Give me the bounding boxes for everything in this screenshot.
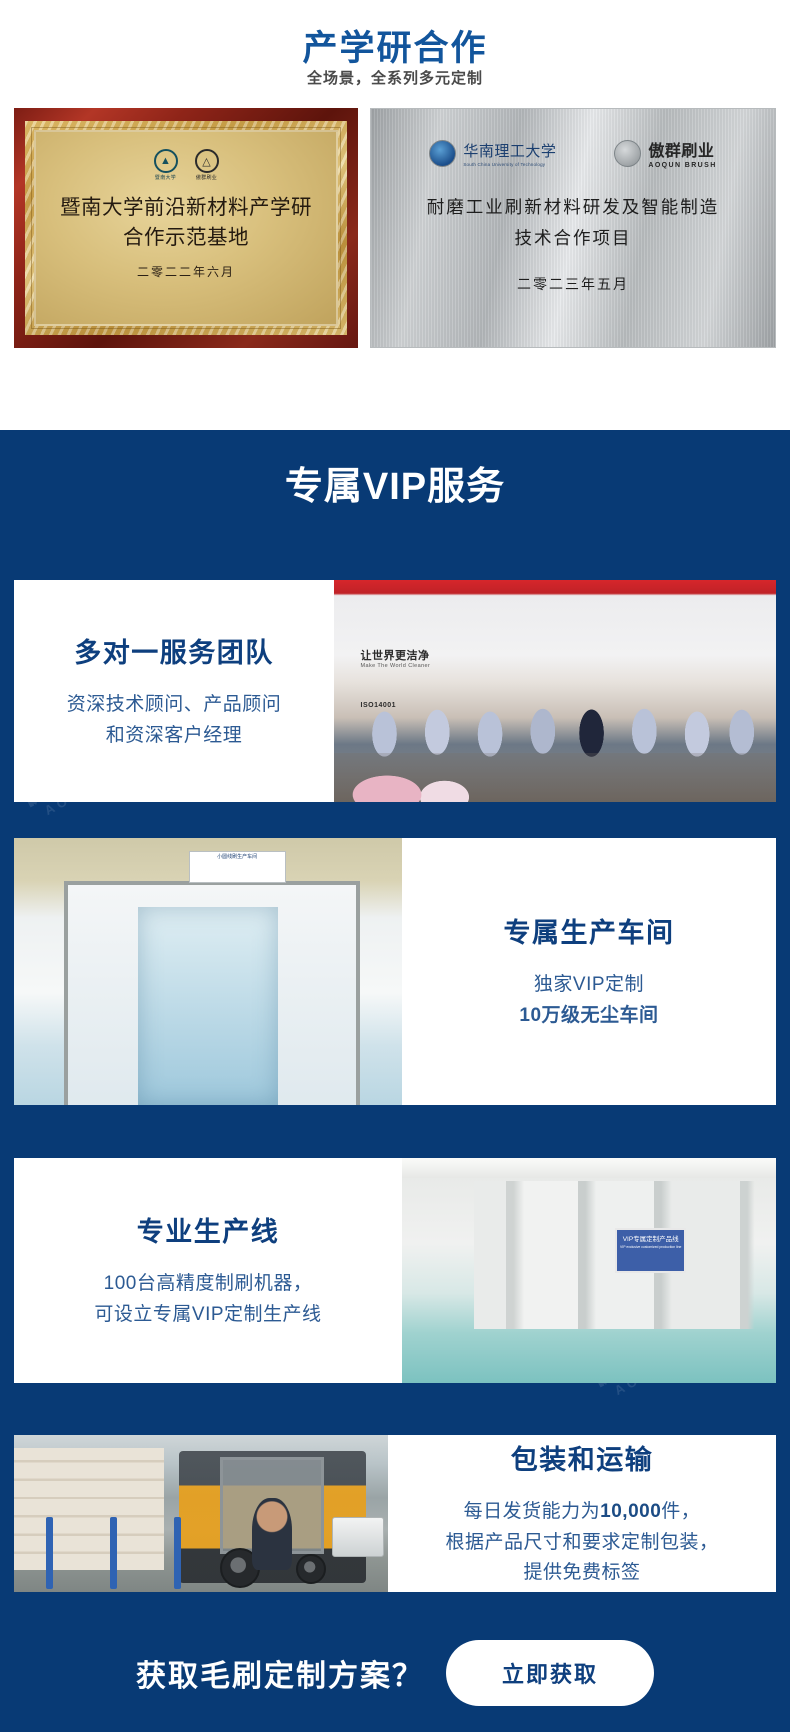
- plaque-gold-face: ▲ 暨南大学 △ 傲群刷业 暨南大学前沿新材料产学研 合作示范基地: [34, 130, 338, 326]
- vip-card-packaging-body: 每日发货能力为10,000件， 根据产品尺寸和要求定制包装， 提供免费标签: [445, 1497, 718, 1589]
- vip-card-team-image: 让世界更洁净 Make The World Cleaner ISO14001: [334, 580, 776, 802]
- university-seal-icon: ▲: [154, 149, 178, 173]
- vip-card-team-body-line-2: 和资深客户经理: [67, 721, 282, 752]
- vip-card-production-line-image: VIP专属定制产品线 VIP exclusive customized prod…: [402, 1158, 776, 1383]
- vip-section-title: 专属VIP服务: [0, 455, 790, 510]
- plaque-gold-bevel: ▲ 暨南大学 △ 傲群刷业 暨南大学前沿新材料产学研 合作示范基地: [25, 121, 347, 335]
- aoqun-logo-label-silver: 傲群刷业: [648, 137, 716, 161]
- photo-team-expo: [334, 580, 776, 802]
- vip-card-workshop-body: 独家VIP定制 10万级无尘车间: [519, 970, 658, 1032]
- photo-slogan-cn: 让世界更洁净: [361, 650, 430, 662]
- page-title: 产学研合作: [0, 20, 790, 71]
- aoqun-mountain-icon: △: [195, 149, 219, 173]
- scut-logo-label: 华南理工大学: [463, 140, 556, 161]
- photo-workshop-sign: 小圆线刷生产车间: [189, 851, 286, 883]
- plaque-gold-text: 暨南大学前沿新材料产学研 合作示范基地: [60, 193, 312, 252]
- scut-seal-icon: [429, 140, 456, 167]
- vip-card-production-line-title: 专业生产线: [137, 1210, 280, 1249]
- scut-logo: 华南理工大学 South China University of Technol…: [429, 140, 556, 167]
- photo-slogan-en: Make The World Cleaner: [361, 663, 431, 669]
- vip-card-production-line-body-line-2: 可设立专属VIP定制生产线: [94, 1300, 321, 1331]
- plaque-gold-line1: 暨南大学前沿新材料产学研: [60, 193, 312, 223]
- vip-card-production-line-text: 专业生产线 100台高精度制刷机器， 可设立专属VIP定制生产线: [14, 1158, 402, 1383]
- plaque-silver-date: 二零二三年五月: [517, 274, 629, 294]
- page-subtitle: 全场景，全系列多元定制: [0, 67, 790, 88]
- delivery-van: [332, 1517, 384, 1558]
- aoqun-brush-logo-silver: 傲群刷业 AOQUN BRUSH: [614, 137, 716, 169]
- photo-forklift-loading: [14, 1435, 388, 1592]
- cta-banner: 获取毛刷定制方案？ 立即获取: [0, 1625, 790, 1721]
- cooperation-section: 产学研合作 全场景，全系列多元定制 ▲ 暨南大学 △ 傲群刷业: [0, 0, 790, 430]
- vip-card-team-body-line-1: 资深技术顾问、产品顾问: [67, 690, 282, 721]
- photo-slogan-overlay: 让世界更洁净 Make The World Cleaner: [361, 647, 431, 669]
- pallet-rack-post-icon: [174, 1517, 181, 1589]
- vip-card-production-line-body-line-1: 100台高精度制刷机器，: [94, 1269, 321, 1300]
- product-detail-page: 产学研合作 全场景，全系列多元定制 ▲ 暨南大学 △ 傲群刷业: [0, 0, 790, 1735]
- pallet-rack-post-icon: [46, 1517, 53, 1589]
- vip-card-workshop: 小圆线刷生产车间 专属生产车间 独家VIP定制 10万级无尘车间: [14, 838, 776, 1105]
- vip-card-production-line: 专业生产线 100台高精度制刷机器， 可设立专属VIP定制生产线 VIP专属定制…: [14, 1158, 776, 1383]
- aoqun-mountain-icon-silver: [614, 140, 641, 167]
- plaque-gold-date: 二零二二年六月: [137, 263, 235, 280]
- aoqun-brush-logo-label: 傲群刷业: [196, 174, 217, 181]
- plaque-gold-line2: 合作示范基地: [60, 223, 312, 253]
- vip-card-packaging-body-line-2: 根据产品尺寸和要求定制包装，: [445, 1528, 718, 1559]
- vip-card-team: 多对一服务团队 资深技术顾问、产品顾问 和资深客户经理 让世界更洁净 Make …: [14, 580, 776, 802]
- vip-card-workshop-image: 小圆线刷生产车间: [14, 838, 402, 1105]
- vip-card-packaging-body-line-3: 提供免费标签: [445, 1558, 718, 1589]
- cta-question: 获取毛刷定制方案？: [136, 1651, 424, 1695]
- vip-card-workshop-body-line-1: 独家VIP定制: [519, 970, 658, 1001]
- plaque-silver-text: 耐磨工业刷新材料研发及智能制造 技术合作项目: [427, 193, 720, 254]
- aoqun-logo-label-en-silver: AOQUN BRUSH: [648, 162, 716, 169]
- scut-logo-label-en: South China University of Technology: [463, 162, 556, 167]
- vip-card-team-title: 多对一服务团队: [74, 631, 274, 670]
- plaque-jinan-university: ▲ 暨南大学 △ 傲群刷业 暨南大学前沿新材料产学研 合作示范基地: [14, 108, 358, 348]
- plaque-silver-line2: 技术合作项目: [427, 224, 720, 255]
- photo-vip-line-sign-en: VIP exclusive customized production line: [617, 1245, 684, 1250]
- jinan-university-logo-label: 暨南大学: [155, 174, 176, 181]
- vip-card-packaging: 包装和运输 每日发货能力为10,000件， 根据产品尺寸和要求定制包装， 提供免…: [14, 1435, 776, 1592]
- vip-card-packaging-image: [14, 1435, 388, 1592]
- vip-card-packaging-title: 包装和运输: [511, 1438, 654, 1477]
- vip-card-packaging-body-line-1: 每日发货能力为10,000件，: [445, 1497, 718, 1528]
- plaque-gallery: ▲ 暨南大学 △ 傲群刷业 暨南大学前沿新材料产学研 合作示范基地: [14, 108, 776, 348]
- pallet-rack-post-icon: [110, 1517, 117, 1589]
- plaque-silver-logos: 华南理工大学 South China University of Technol…: [429, 137, 716, 169]
- photo-brush-machines: [402, 1158, 776, 1383]
- photo-iso-badge: ISO14001: [361, 702, 397, 709]
- vip-card-workshop-title: 专属生产车间: [504, 911, 675, 950]
- jinan-university-logo: ▲ 暨南大学: [154, 149, 178, 181]
- vip-card-workshop-body-line-2: 10万级无尘车间: [519, 1001, 658, 1032]
- get-quote-button[interactable]: 立即获取: [446, 1640, 654, 1706]
- plaque-scut-cooperation: 华南理工大学 South China University of Technol…: [370, 108, 776, 348]
- vip-card-team-text: 多对一服务团队 资深技术顾问、产品顾问 和资深客户经理: [14, 580, 334, 802]
- vip-card-team-body: 资深技术顾问、产品顾问 和资深客户经理: [67, 690, 282, 752]
- forklift-driver: [252, 1498, 292, 1570]
- vip-card-packaging-text: 包装和运输 每日发货能力为10,000件， 根据产品尺寸和要求定制包装， 提供免…: [388, 1435, 776, 1592]
- vip-card-workshop-text: 专属生产车间 独家VIP定制 10万级无尘车间: [402, 838, 776, 1105]
- plaque-gold-logos: ▲ 暨南大学 △ 傲群刷业: [154, 149, 219, 181]
- aoqun-brush-logo: △ 傲群刷业: [195, 149, 219, 181]
- plaque-silver-line1: 耐磨工业刷新材料研发及智能制造: [427, 193, 720, 224]
- vip-service-section: 专属VIP服务 傲群刷业 AOQUN BRUSH 傲群刷业 AOQUN BRUS…: [0, 430, 790, 1735]
- photo-vip-line-sign-cn: VIP专属定制产品线: [623, 1236, 679, 1243]
- vip-card-production-line-body: 100台高精度制刷机器， 可设立专属VIP定制生产线: [94, 1269, 321, 1331]
- photo-vip-line-sign: VIP专属定制产品线 VIP exclusive customized prod…: [615, 1228, 686, 1273]
